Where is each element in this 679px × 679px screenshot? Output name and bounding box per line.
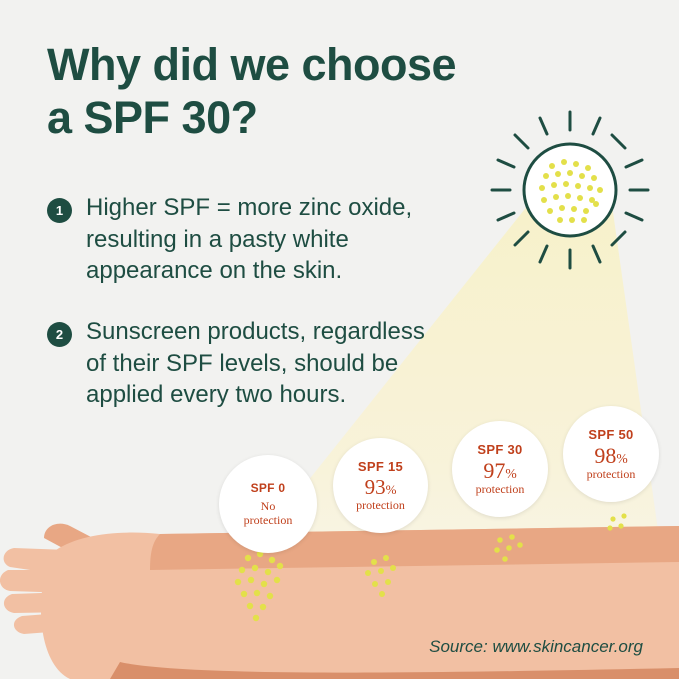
percent-sign: % (505, 466, 516, 481)
spf-percent-value: 97 (483, 458, 505, 483)
list-item: 1 Higher SPF = more zinc oxide, resultin… (47, 192, 517, 287)
percent-sign: % (386, 482, 397, 497)
spf-sublabel: protection (356, 499, 405, 513)
spf-bubble-50: SPF 50 98% protection (563, 406, 659, 502)
list-item: 2 Sunscreen products, regardless of thei… (47, 316, 537, 411)
spf-bubble-0: SPF 0 No protection (219, 455, 317, 553)
point-text: Sunscreen products, regardless of their … (86, 316, 425, 411)
spf-percent: 98% (594, 444, 627, 467)
spf-bubble-30: SPF 30 97% protection (452, 421, 548, 517)
spf-percent-value: 98 (594, 443, 616, 468)
source-attribution: Source: www.skincancer.org (429, 637, 643, 657)
point-text: Higher SPF = more zinc oxide, resulting … (86, 192, 412, 287)
spf-label: SPF 50 (588, 427, 633, 442)
spf-percent: 93% (365, 476, 397, 498)
point-number-badge: 2 (47, 322, 72, 347)
spf-label: SPF 0 (251, 481, 286, 495)
point-number-badge: 1 (47, 198, 72, 223)
spf-sublabel: protection (587, 468, 636, 482)
spf-sublabel: No protection (244, 500, 293, 528)
percent-sign: % (616, 451, 627, 466)
infographic-canvas: Why did we choose a SPF 30? (0, 0, 679, 679)
spf-percent: 97% (483, 459, 516, 482)
spf-percent-value: 93 (365, 475, 386, 499)
spf-sublabel: protection (476, 483, 525, 497)
spf-label: SPF 30 (477, 442, 522, 457)
spf-label: SPF 15 (358, 459, 403, 474)
spf-bubble-15: SPF 15 93% protection (333, 438, 428, 533)
